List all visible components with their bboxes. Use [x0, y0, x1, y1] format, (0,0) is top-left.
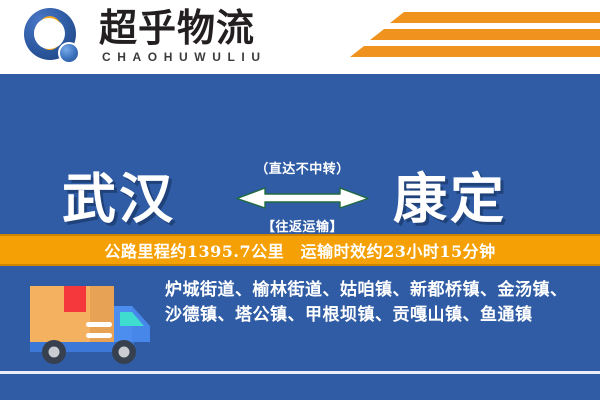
stripe-1 [390, 12, 600, 23]
delivery-truck-icon [28, 280, 156, 366]
distance-duration-text: 公路里程约1395.7公里 运输时效约23小时15分钟 [104, 238, 495, 262]
logistics-route-banner: 超乎物流 CHAOHUWULIU 武汉 （直达不中转） 【往返运输】 康定 公路… [0, 0, 600, 400]
stripe-2 [370, 29, 600, 40]
route-panel: 武汉 （直达不中转） 【往返运输】 康定 [0, 74, 600, 234]
brand-name-cn: 超乎物流 [99, 6, 255, 50]
logo-crescent-cutout [34, 18, 64, 49]
roundtrip-note: 【往返运输】 [235, 216, 370, 235]
direct-note: （直达不中转） [235, 158, 370, 177]
bidirectional-arrow-icon [235, 184, 370, 210]
brand-name-en: CHAOHUWULIU [102, 50, 267, 64]
banner-header: 超乎物流 CHAOHUWULIU [0, 0, 600, 74]
logo-dot [58, 42, 80, 64]
coverage-line-1: 炉城街道、榆林街道、姑咱镇、新都桥镇、金汤镇、 [165, 278, 585, 303]
origin-city: 武汉 [62, 155, 176, 234]
speed-stripes-icon [350, 12, 600, 60]
stripe-3 [350, 46, 600, 57]
circle-crescent-logo-icon [22, 8, 84, 66]
destination-city: 康定 [393, 155, 507, 234]
bottom-divider [0, 371, 600, 374]
route-middle: （直达不中转） 【往返运输】 [235, 158, 370, 235]
coverage-area-list: 炉城街道、榆林街道、姑咱镇、新都桥镇、金汤镇、 沙德镇、塔公镇、甲根坝镇、贡嘎山… [165, 278, 585, 328]
distance-duration-band: 公路里程约1395.7公里 运输时效约23小时15分钟 [0, 234, 600, 266]
coverage-line-2: 沙德镇、塔公镇、甲根坝镇、贡嘎山镇、鱼通镇 [165, 303, 585, 328]
